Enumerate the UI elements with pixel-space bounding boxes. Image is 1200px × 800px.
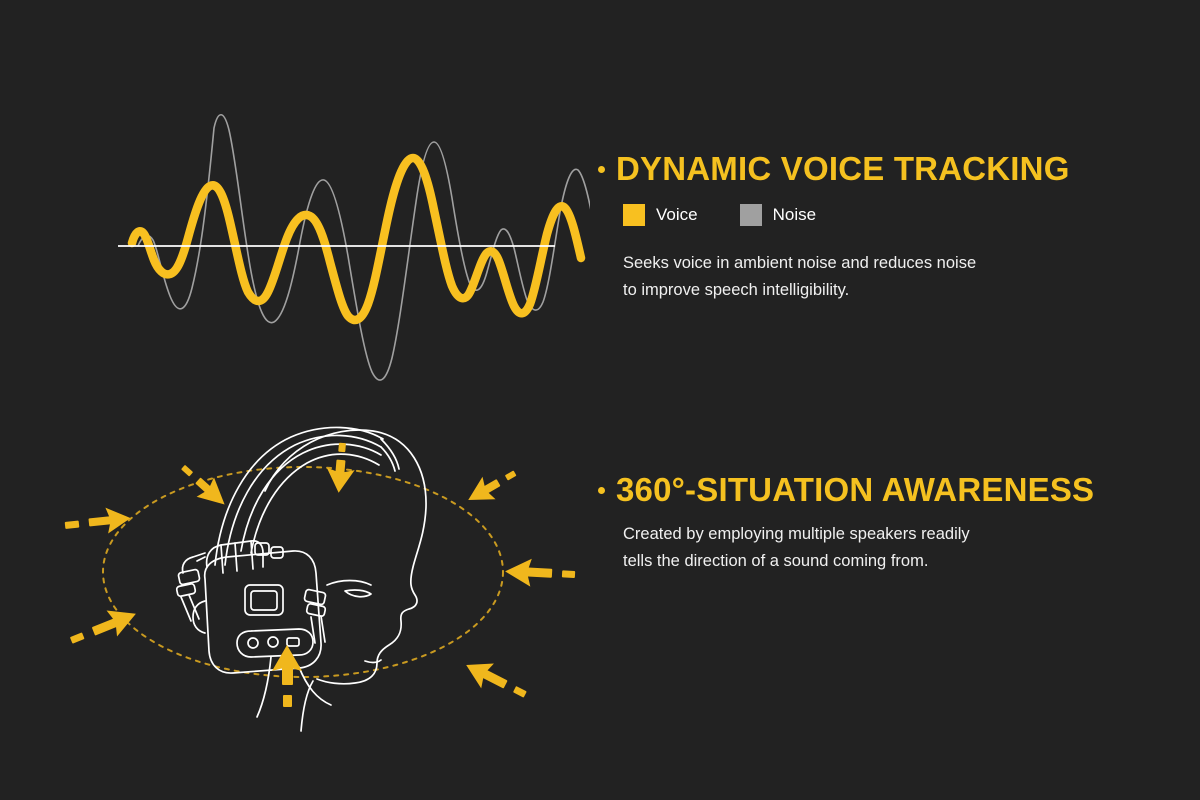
situation-awareness-description-line-2: tells the direction of a sound coming fr… <box>623 548 1158 576</box>
direction-arrows <box>64 442 576 708</box>
situation-awareness-heading-row: 360°-SITUATION AWARENESS <box>598 473 1158 508</box>
voice-tracking-heading-row: DYNAMIC VOICE TRACKING <box>598 152 1138 187</box>
bullet-dot-icon <box>598 487 605 494</box>
headset-and-head-outline <box>176 427 426 731</box>
arrow-south-east <box>460 653 532 708</box>
arrow-east <box>504 557 575 589</box>
legend-item-noise: Noise <box>740 204 816 226</box>
arrow-north-west <box>174 457 233 514</box>
situation-awareness-description: Created by employing multiple speakers r… <box>623 521 1158 576</box>
arrow-south-west <box>66 601 141 653</box>
voice-tracking-description: Seeks voice in ambient noise and reduces… <box>623 250 1138 305</box>
voice-tracking-description-line-1: Seeks voice in ambient noise and reduces… <box>623 250 1138 278</box>
legend-label-voice: Voice <box>656 206 698 223</box>
voice-waveform-path <box>132 158 581 320</box>
waveform-figure <box>90 90 590 390</box>
legend-label-noise: Noise <box>773 206 816 223</box>
legend-swatch-noise-icon <box>740 204 762 226</box>
arrow-west <box>64 505 132 538</box>
situation-awareness-description-line-1: Created by employing multiple speakers r… <box>623 521 1158 549</box>
waveform-legend: Voice Noise <box>623 204 1138 226</box>
infographic-page: DYNAMIC VOICE TRACKING Voice Noise Seeks… <box>0 0 1200 800</box>
noise-waveform-path <box>138 115 590 380</box>
voice-tracking-text-block: DYNAMIC VOICE TRACKING Voice Noise Seeks… <box>598 152 1138 305</box>
legend-item-voice: Voice <box>623 204 698 226</box>
page-title-situation-awareness: 360°-SITUATION AWARENESS <box>616 473 1094 508</box>
360-degree-dashed-ellipse <box>103 467 503 677</box>
headset-360-figure <box>55 395 585 745</box>
bullet-dot-icon <box>598 166 605 173</box>
page-title-dynamic-voice-tracking: DYNAMIC VOICE TRACKING <box>616 152 1070 187</box>
arrow-north-east <box>462 462 522 512</box>
situation-awareness-text-block: 360°-SITUATION AWARENESS Created by empl… <box>598 473 1158 576</box>
legend-swatch-voice-icon <box>623 204 645 226</box>
voice-tracking-description-line-2: to improve speech intelligibility. <box>623 277 1138 305</box>
